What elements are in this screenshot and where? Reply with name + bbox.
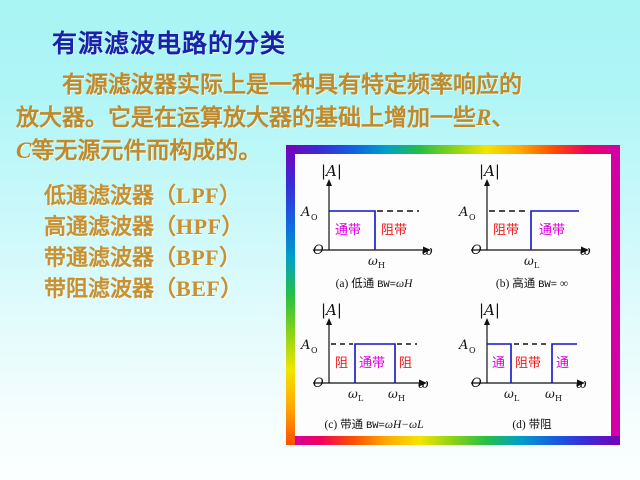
caption-bw-value: ωH−ωL <box>385 419 424 431</box>
svg-text:|A|: |A| <box>321 301 342 319</box>
svg-text:通带: 通带 <box>359 356 385 371</box>
list-item: 带通滤波器（BPF） <box>44 242 244 273</box>
svg-text:|A|: |A| <box>479 301 500 319</box>
paragraph-line-2-tail: 、 <box>491 105 514 130</box>
filter-name: 带阻滤波器 <box>44 276 154 301</box>
svg-text:O: O <box>469 213 476 222</box>
figure-rainbow-frame: |A| A O O 通带 阻带 ω H ω (a) <box>286 145 620 445</box>
svg-text:ω: ω <box>524 254 534 268</box>
svg-text:L: L <box>358 394 364 403</box>
chart-caption-bandpass: (c) 带通 BW=ωH−ωL <box>295 416 453 432</box>
svg-text:ω: ω <box>388 387 398 401</box>
bandstop-plot: |A| A O O 通 阻带 通 ω L ω <box>453 295 611 436</box>
paragraph-line-1: 有源滤波器实际上是一种具有特定频率响应的 <box>62 72 522 97</box>
svg-text:通带: 通带 <box>335 223 361 238</box>
paragraph-line-2: 放大器。它是在运算放大器的基础上增加一些 <box>16 105 476 130</box>
svg-text:ω: ω <box>576 377 587 392</box>
caption-name: 高通 <box>512 278 535 290</box>
paren-open: （ <box>154 276 176 301</box>
svg-text:阻: 阻 <box>335 356 348 371</box>
chart-caption-lowpass: (a) 低通 BW=ωH <box>295 275 453 291</box>
caption-bw: BW= <box>377 279 396 291</box>
caption-name: 带阻 <box>529 419 552 431</box>
paren-close: ） <box>219 245 241 270</box>
lowpass-plot: |A| A O O 通带 阻带 ω H ω <box>295 154 453 295</box>
svg-text:ω: ω <box>368 254 378 268</box>
svg-text:O: O <box>313 376 324 391</box>
svg-text:ω: ω <box>348 387 358 401</box>
page-title: 有源滤波电路的分类 <box>52 24 286 60</box>
paragraph-line-3: 等无源元件而构成的。 <box>31 138 261 163</box>
caption-bw: BW= <box>538 279 557 291</box>
caption-name: 带通 <box>340 419 363 431</box>
svg-text:H: H <box>378 261 385 270</box>
caption-bw: BW= <box>366 420 385 432</box>
filter-abbr: HPF <box>176 214 222 239</box>
caption-bw-value: ωH <box>396 278 412 290</box>
svg-text:阻: 阻 <box>399 356 412 371</box>
paren-open: （ <box>154 214 176 239</box>
svg-text:阻带: 阻带 <box>493 223 519 238</box>
svg-text:|A|: |A| <box>479 162 500 180</box>
symbol-r: R <box>476 105 491 130</box>
svg-text:|A|: |A| <box>321 162 342 180</box>
svg-text:O: O <box>311 213 318 222</box>
svg-text:ω: ω <box>422 244 433 259</box>
svg-text:阻带: 阻带 <box>515 356 541 371</box>
chart-highpass: |A| A O O 阻带 通带 ω L ω (b) <box>453 154 611 295</box>
svg-text:L: L <box>534 261 540 270</box>
svg-text:ω: ω <box>545 387 555 401</box>
slide-canvas: 有源滤波电路的分类 有源滤波器实际上是一种具有特定频率响应的 放大器。它是在运算… <box>0 0 640 480</box>
highpass-plot: |A| A O O 阻带 通带 ω L ω <box>453 154 611 295</box>
chart-caption-bandstop: (d) 带阻 <box>453 416 611 432</box>
svg-text:通: 通 <box>492 356 505 371</box>
svg-text:O: O <box>471 376 482 391</box>
filter-name: 高通滤波器 <box>44 214 154 239</box>
svg-text:A: A <box>300 338 310 353</box>
paren-close: ） <box>222 214 244 239</box>
filter-type-list: 低通滤波器（LPF） 高通滤波器（HPF） 带通滤波器（BPF） 带阻滤波器（B… <box>44 180 244 304</box>
filter-name: 带通滤波器 <box>44 245 154 270</box>
svg-text:O: O <box>469 346 476 355</box>
list-item: 高通滤波器（HPF） <box>44 211 244 242</box>
caption-tag: (d) <box>512 419 525 431</box>
caption-tag: (a) <box>336 278 349 290</box>
svg-text:O: O <box>311 346 318 355</box>
caption-bw-value: ∞ <box>560 278 568 290</box>
paren-open: （ <box>154 183 176 208</box>
svg-text:通: 通 <box>556 356 569 371</box>
figure-grid: |A| A O O 通带 阻带 ω H ω (a) <box>295 154 611 436</box>
bandpass-plot: |A| A O O 阻 通带 阻 ω L ω <box>295 295 453 436</box>
svg-text:ω: ω <box>418 377 429 392</box>
filter-abbr: BPF <box>176 245 219 270</box>
svg-text:A: A <box>458 205 468 220</box>
caption-tag: (c) <box>324 419 337 431</box>
svg-text:A: A <box>300 205 310 220</box>
svg-text:L: L <box>514 394 520 403</box>
filter-abbr: LPF <box>176 183 219 208</box>
svg-text:H: H <box>398 394 405 403</box>
filter-name: 低通滤波器 <box>44 183 154 208</box>
svg-text:O: O <box>471 243 482 258</box>
paren-open: （ <box>154 245 176 270</box>
symbol-c: C <box>16 138 31 163</box>
chart-lowpass: |A| A O O 通带 阻带 ω H ω (a) <box>295 154 453 295</box>
svg-text:阻带: 阻带 <box>381 223 407 238</box>
svg-text:O: O <box>313 243 324 258</box>
paren-close: ） <box>219 183 241 208</box>
svg-text:ω: ω <box>504 387 514 401</box>
svg-text:ω: ω <box>580 244 591 259</box>
chart-caption-highpass: (b) 高通 BW= ∞ <box>453 275 611 291</box>
caption-name: 低通 <box>351 278 374 290</box>
svg-text:A: A <box>458 338 468 353</box>
svg-text:H: H <box>555 394 562 403</box>
chart-bandpass: |A| A O O 阻 通带 阻 ω L ω <box>295 295 453 436</box>
filter-abbr: BEF <box>176 276 220 301</box>
chart-bandstop: |A| A O O 通 阻带 通 ω L ω <box>453 295 611 436</box>
paren-close: ） <box>220 276 242 301</box>
list-item: 低通滤波器（LPF） <box>44 180 244 211</box>
caption-tag: (b) <box>496 278 509 290</box>
list-item: 带阻滤波器（BEF） <box>44 273 244 304</box>
svg-text:通带: 通带 <box>539 223 565 238</box>
